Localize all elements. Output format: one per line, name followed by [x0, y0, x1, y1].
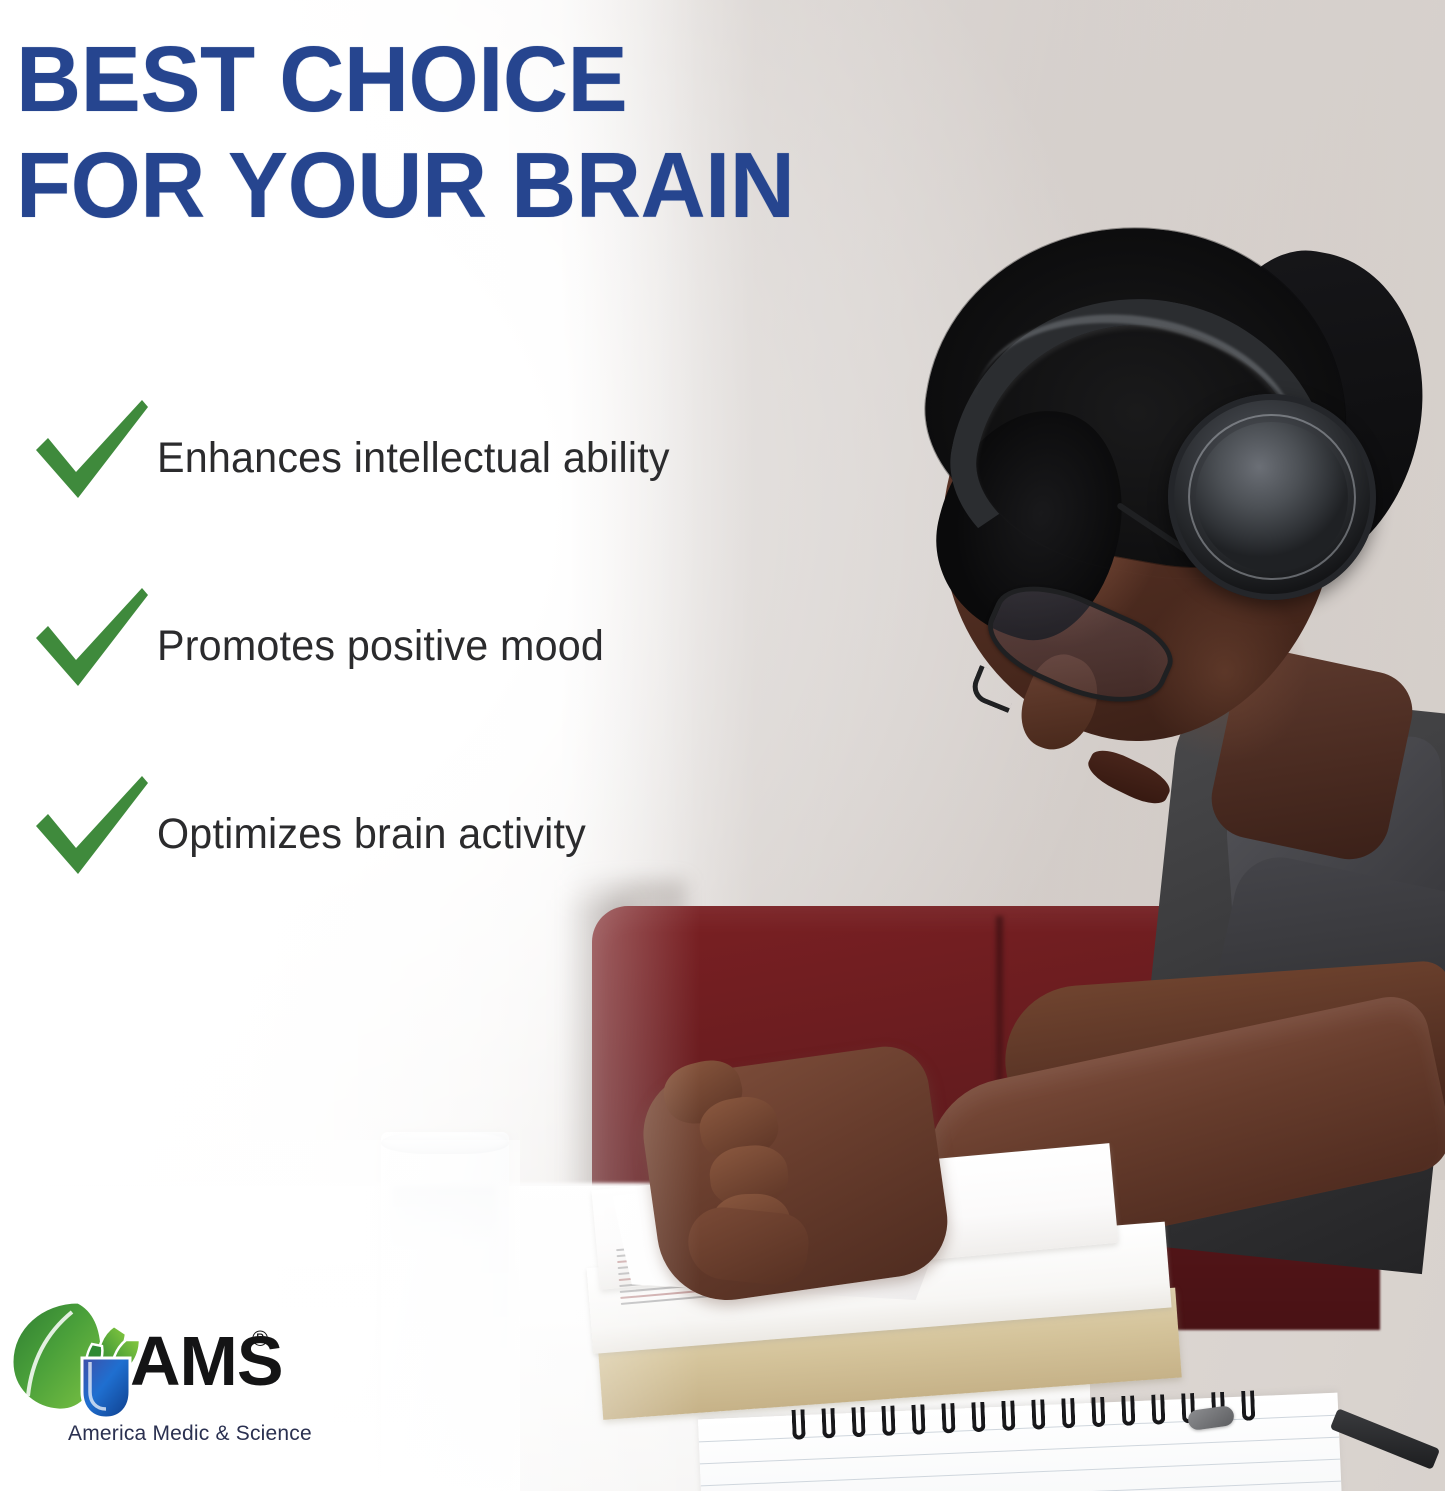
brand-logo: AMS ® America Medic & Science [6, 1296, 276, 1456]
list-item: Optimizes brain activity [0, 774, 900, 962]
water-in-glass [392, 1186, 496, 1246]
benefit-label: Optimizes brain activity [157, 810, 586, 859]
page-title: BEST CHOICE FOR YOUR BRAIN [16, 26, 996, 238]
registered-trademark-icon: ® [252, 1326, 268, 1352]
benefit-label: Enhances intellectual ability [157, 434, 670, 483]
benefit-label: Promotes positive mood [157, 622, 604, 671]
benefits-list: Enhances intellectual ability Promotes p… [0, 398, 900, 962]
check-icon [30, 398, 152, 508]
check-icon [30, 586, 152, 696]
headline-line-1: BEST CHOICE [16, 27, 627, 131]
glass-rim [381, 1132, 509, 1154]
logo-tagline: America Medic & Science [68, 1422, 312, 1446]
check-icon [30, 774, 152, 884]
promotional-banner: BEST CHOICE FOR YOUR BRAIN Enhances inte… [0, 0, 1445, 1491]
headline-line-2: FOR YOUR BRAIN [16, 132, 996, 238]
list-item: Promotes positive mood [0, 586, 900, 774]
list-item: Enhances intellectual ability [0, 398, 900, 586]
